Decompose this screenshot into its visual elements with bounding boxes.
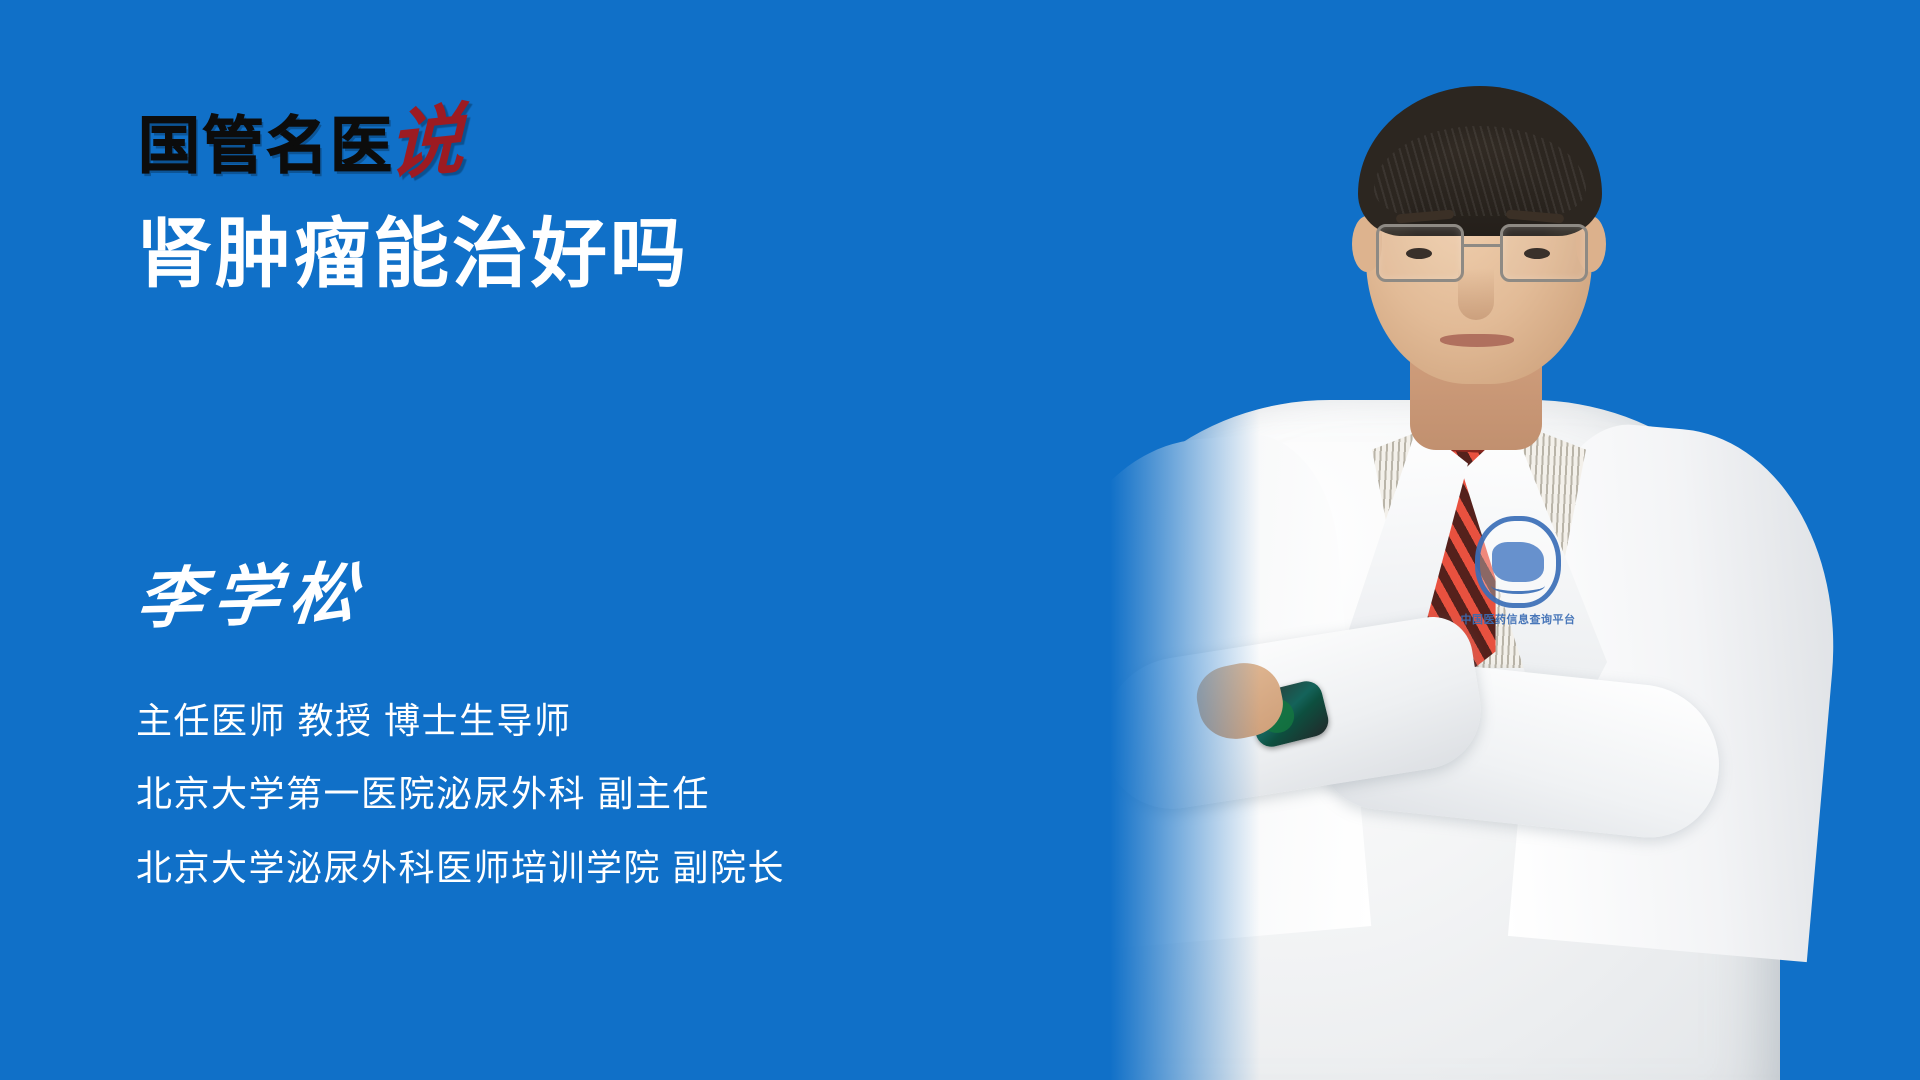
doctor-credentials: 主任医师 教授 博士生导师 北京大学第一医院泌尿外科 副主任 北京大学泌尿外科医… [136,700,785,889]
doctor-portrait-photo: 中国医药信息查询平台 [1110,0,1920,1080]
hospital-emblem-icon: 中国医药信息查询平台 [1466,516,1570,628]
episode-title: 肾肿瘤能治好吗 [136,212,689,299]
coat-badge-text: 中国医药信息查询平台 [1461,611,1576,627]
mouth [1440,334,1514,347]
program-logo-main-text: 国管名医 [138,116,394,178]
emblem-ring [1475,516,1561,608]
glasses-lens-left [1376,224,1464,282]
program-logo-accent-text: 说 [388,106,464,184]
glasses-lens-right [1500,224,1588,282]
credential-line-3: 北京大学泌尿外科医师培训学院 副院长 [136,847,785,889]
credential-line-2: 北京大学第一医院泌尿外科 副主任 [136,773,785,815]
hair [1358,86,1602,236]
video-cover-slide: 国管名医 说 肾肿瘤能治好吗 李学松 主任医师 教授 博士生导师 北京大学第一医… [0,0,1920,1080]
doctor-name: 李学松 [134,562,369,634]
program-logo: 国管名医 说 [138,92,464,178]
nose [1458,268,1494,320]
credential-line-1: 主任医师 教授 博士生导师 [136,700,785,742]
glasses-bridge [1464,244,1500,247]
